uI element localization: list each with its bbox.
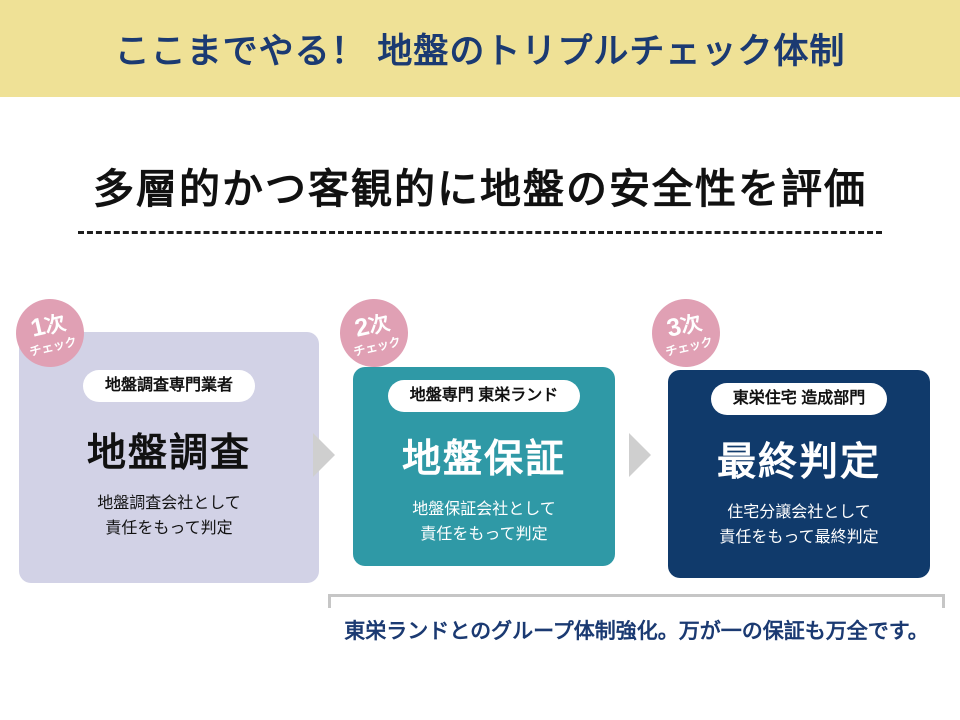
step-badge-2-unit: 次 xyxy=(366,312,392,339)
card-2-description-line1: 地盤保証会社として xyxy=(412,498,556,523)
card-2-title: 地盤保証 xyxy=(402,428,566,484)
card-1-title: 地盤調査 xyxy=(87,422,251,478)
card-3-title: 最終判定 xyxy=(717,431,881,487)
step-badge-1-unit: 次 xyxy=(42,312,68,339)
step-badge-3-unit: 次 xyxy=(678,312,704,339)
card-1-pill-label: 地盤調査専門業者 xyxy=(83,370,255,402)
process-card-1: 地盤調査専門業者 地盤調査 地盤調査会社として 責任をもって判定 xyxy=(19,332,319,583)
footnote-text: 東栄ランドとのグループ体制強化。万が一の保証も万全です。 xyxy=(328,615,945,645)
card-2-description-line2: 責任をもって判定 xyxy=(412,523,556,548)
process-card-3: 東栄住宅 造成部門 最終判定 住宅分譲会社として 責任をもって最終判定 xyxy=(668,370,930,578)
card-3-description-line2: 責任をもって最終判定 xyxy=(719,526,878,551)
group-bracket-icon xyxy=(328,594,945,608)
process-card-2: 地盤専門 東栄ランド 地盤保証 地盤保証会社として 責任をもって判定 xyxy=(353,367,615,566)
step-badge-2: 2次 チェック xyxy=(333,292,415,374)
card-3-description-line1: 住宅分譲会社として xyxy=(719,501,878,526)
card-1-description-line2: 責任をもって判定 xyxy=(97,517,241,542)
process-cards-container: 地盤調査専門業者 地盤調査 地盤調査会社として 責任をもって判定 地盤専門 東栄… xyxy=(0,0,960,720)
card-3-description: 住宅分譲会社として 責任をもって最終判定 xyxy=(719,501,878,551)
card-1-description-line1: 地盤調査会社として xyxy=(97,492,241,517)
arrow-right-icon xyxy=(629,433,651,477)
card-1-description: 地盤調査会社として 責任をもって判定 xyxy=(97,492,241,542)
step-badge-3: 3次 チェック xyxy=(645,292,727,374)
arrow-right-icon xyxy=(313,433,335,477)
card-2-description: 地盤保証会社として 責任をもって判定 xyxy=(412,498,556,548)
card-2-pill-label: 地盤専門 東栄ランド xyxy=(388,380,580,412)
card-3-pill-label: 東栄住宅 造成部門 xyxy=(711,383,887,415)
